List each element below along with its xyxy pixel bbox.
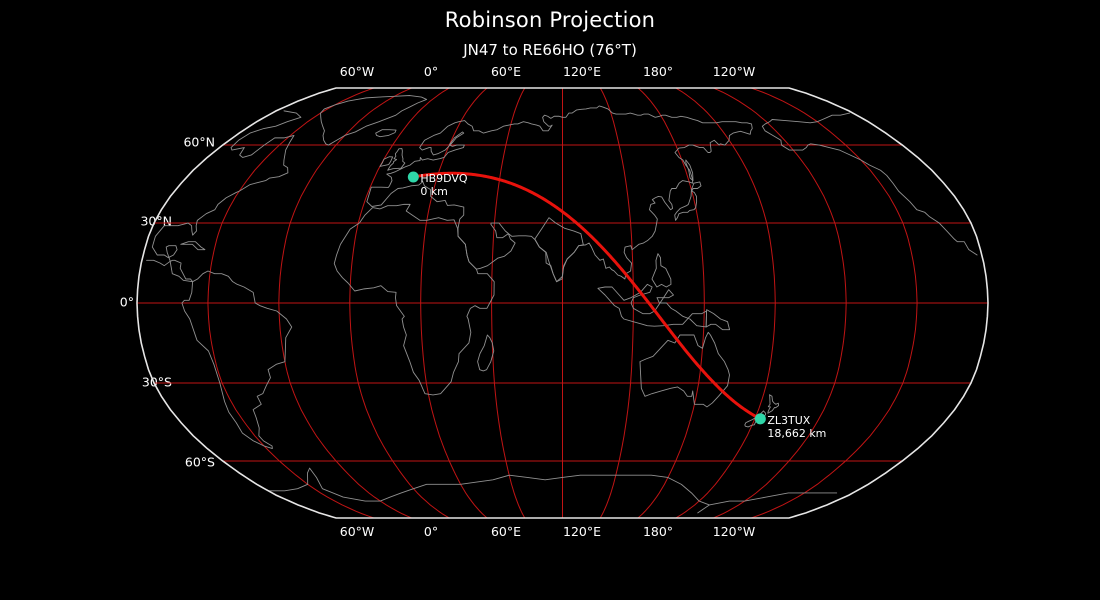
marker-hb9dvq: HB9DVQ0 km <box>408 171 468 198</box>
marker-hb9dvq-distance: 0 km <box>420 185 448 198</box>
marker-zl3tux-dot <box>755 413 766 424</box>
marker-zl3tux-distance: 18,662 km <box>767 427 826 440</box>
map-figure: Robinson Projection JN47 to RE66HO (76°T… <box>0 0 1100 600</box>
marker-hb9dvq-callsign: HB9DVQ <box>420 172 468 185</box>
marker-zl3tux: ZL3TUX18,662 km <box>755 413 827 440</box>
map-svg: HB9DVQ0 kmZL3TUX18,662 km <box>0 0 1100 600</box>
map-canvas: HB9DVQ0 kmZL3TUX18,662 km <box>0 0 1100 600</box>
marker-hb9dvq-dot <box>408 171 419 182</box>
marker-zl3tux-callsign: ZL3TUX <box>767 414 810 427</box>
